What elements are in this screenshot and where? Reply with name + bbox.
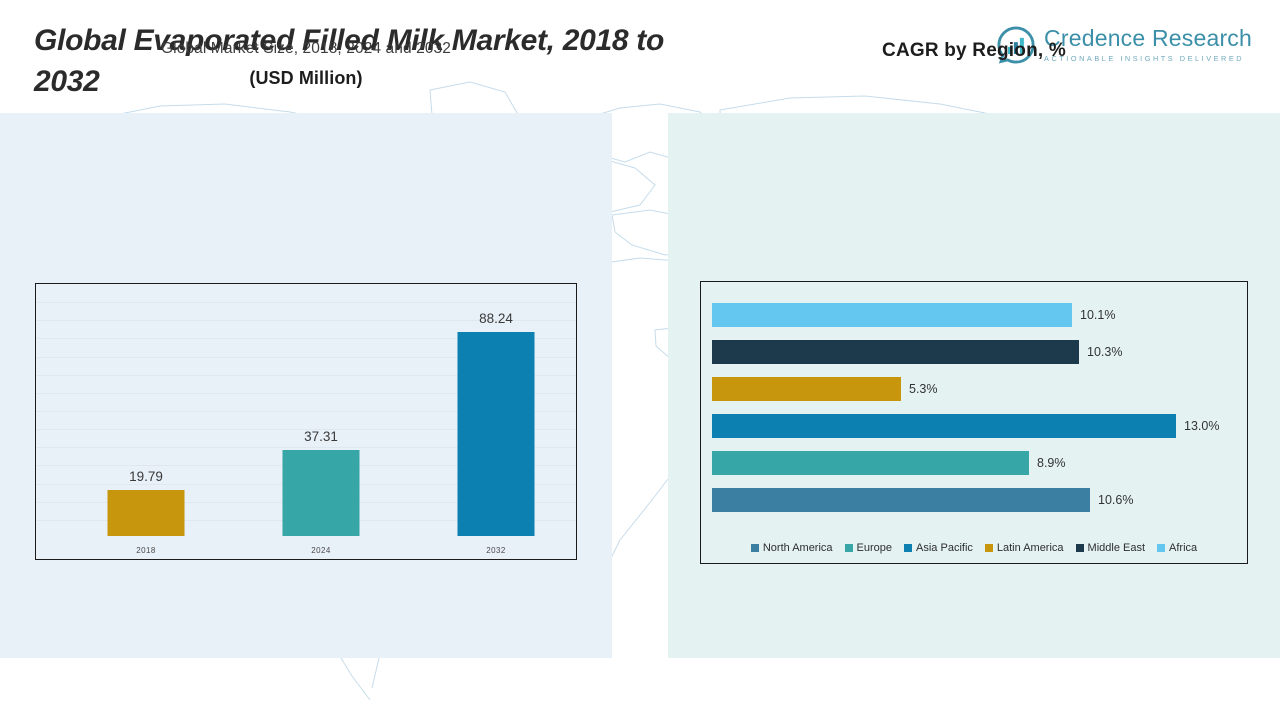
legend-label: Asia Pacific — [916, 542, 973, 554]
bar[interactable] — [712, 414, 1176, 438]
market-size-chart: 19.79201837.31202488.242032 — [35, 283, 577, 560]
bar-value-label: 13.0% — [1184, 419, 1219, 433]
bar-value-label: 10.1% — [1080, 308, 1115, 322]
legend-item[interactable]: Latin America — [985, 542, 1064, 554]
x-axis-tick-label: 2024 — [311, 546, 330, 555]
bar-group: 37.312024 — [241, 305, 401, 536]
bar-group: 19.792018 — [66, 305, 226, 536]
bar-row: 10.3% — [712, 340, 1122, 364]
legend-item[interactable]: Middle East — [1076, 542, 1145, 554]
left-chart-title: Global Market Size, 2018, 2024 and 2032 — [0, 40, 612, 58]
bar[interactable] — [283, 450, 360, 536]
legend-swatch-icon — [845, 544, 853, 552]
legend-item[interactable]: Africa — [1157, 542, 1197, 554]
legend-item[interactable]: Europe — [845, 542, 892, 554]
legend-label: Europe — [857, 542, 892, 554]
bar-row: 10.1% — [712, 303, 1115, 327]
legend-swatch-icon — [904, 544, 912, 552]
bar-value-label: 8.9% — [1037, 456, 1066, 470]
chart-legend: North AmericaEuropeAsia PacificLatin Ame… — [701, 542, 1247, 554]
bar-value-label: 10.6% — [1098, 493, 1133, 507]
bar[interactable] — [712, 488, 1090, 512]
x-axis-tick-label: 2032 — [486, 546, 505, 555]
bar[interactable] — [108, 490, 185, 536]
legend-item[interactable]: Asia Pacific — [904, 542, 973, 554]
left-chart-subtitle: (USD Million) — [0, 68, 612, 89]
right-chart-title: CAGR by Region, % — [668, 40, 1280, 62]
x-axis-tick-label: 2018 — [136, 546, 155, 555]
legend-item[interactable]: North America — [751, 542, 833, 554]
page-title: Global Evaporated Filled Milk Market, 20… — [34, 20, 734, 103]
bar-value-label: 5.3% — [909, 382, 938, 396]
bar-value-label: 19.79 — [129, 469, 163, 484]
cagr-by-region-chart: 10.1%10.3%5.3%13.0%8.9%10.6% North Ameri… — [700, 281, 1248, 564]
bar[interactable] — [712, 451, 1029, 475]
horizontal-bars-plot: 10.1%10.3%5.3%13.0%8.9%10.6% — [701, 282, 1247, 563]
infographic-root: Global Evaporated Filled Milk Market, 20… — [0, 0, 1280, 720]
bar[interactable] — [712, 377, 901, 401]
legend-label: Africa — [1169, 542, 1197, 554]
bar[interactable] — [458, 332, 535, 536]
legend-label: North America — [763, 542, 833, 554]
bar-row: 13.0% — [712, 414, 1219, 438]
legend-swatch-icon — [1076, 544, 1084, 552]
bar-group: 88.242032 — [416, 305, 576, 536]
vertical-bars-plot: 19.79201837.31202488.242032 — [36, 284, 576, 559]
legend-swatch-icon — [1157, 544, 1165, 552]
bar[interactable] — [712, 303, 1072, 327]
legend-swatch-icon — [985, 544, 993, 552]
bar-value-label: 10.3% — [1087, 345, 1122, 359]
bar-value-label: 88.24 — [479, 311, 513, 326]
bar-row: 5.3% — [712, 377, 938, 401]
bar-row: 10.6% — [712, 488, 1133, 512]
legend-swatch-icon — [751, 544, 759, 552]
bar-row: 8.9% — [712, 451, 1066, 475]
legend-label: Latin America — [997, 542, 1064, 554]
legend-label: Middle East — [1088, 542, 1145, 554]
bar[interactable] — [712, 340, 1079, 364]
bar-value-label: 37.31 — [304, 429, 338, 444]
